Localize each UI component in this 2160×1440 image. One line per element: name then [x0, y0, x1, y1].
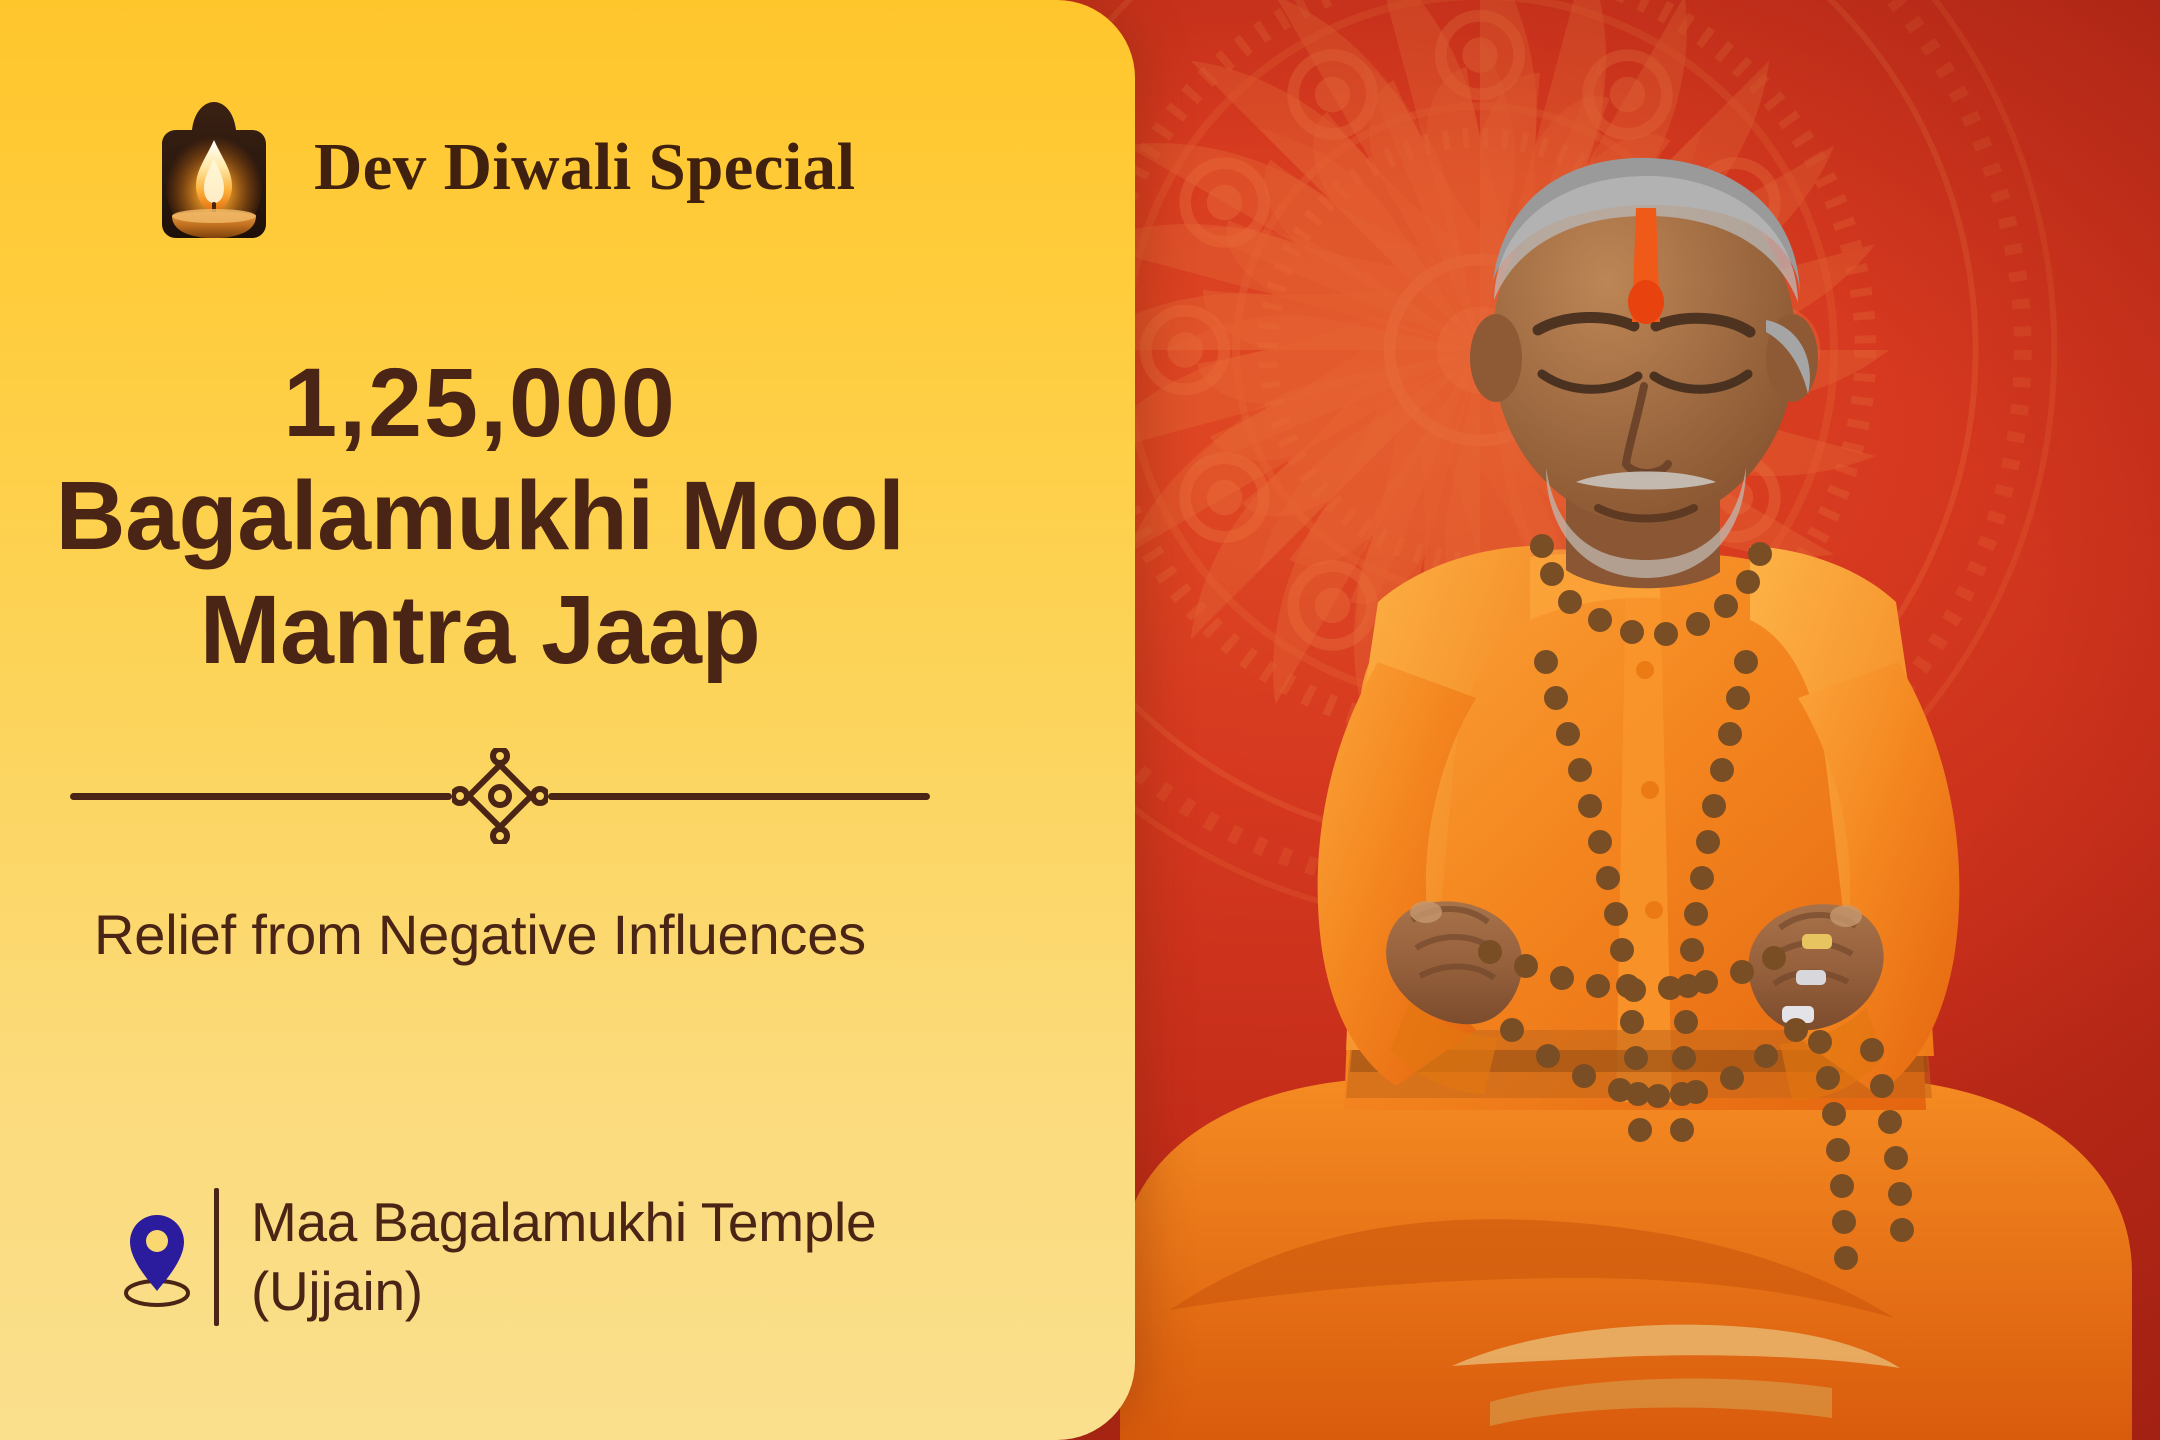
- location-separator: [214, 1188, 219, 1326]
- diya-lamp-icon: [148, 96, 280, 238]
- location-line-1: Maa Bagalamukhi Temple: [251, 1188, 876, 1257]
- ornamental-divider: [70, 748, 930, 844]
- divider-rule-left: [70, 793, 452, 800]
- content-card: Dev Diwali Special 1,25,000 Bagalamukhi …: [0, 0, 1135, 1440]
- brand-title: Dev Diwali Special: [314, 129, 855, 206]
- location-block: Maa Bagalamukhi Temple (Ujjain): [118, 1188, 876, 1327]
- brand-row: Dev Diwali Special: [0, 96, 1000, 238]
- location-line-2: (Ujjain): [251, 1257, 876, 1326]
- promo-banner: Dev Diwali Special 1,25,000 Bagalamukhi …: [0, 0, 2160, 1440]
- headline-line-3: Mantra Jaap: [20, 573, 940, 686]
- subtitle: Relief from Negative Influences: [0, 902, 1000, 967]
- headline-line-2: Bagalamukhi Mool: [20, 459, 940, 572]
- map-pin-icon: [118, 1205, 196, 1309]
- location-text: Maa Bagalamukhi Temple (Ujjain): [251, 1188, 876, 1327]
- divider-rule-right: [548, 793, 930, 800]
- headline-amount: 1,25,000: [20, 346, 940, 459]
- headline: 1,25,000 Bagalamukhi Mool Mantra Jaap: [0, 346, 1000, 686]
- content-card-inner: Dev Diwali Special 1,25,000 Bagalamukhi …: [0, 0, 1000, 1440]
- diamond-ornament-icon: [452, 748, 548, 844]
